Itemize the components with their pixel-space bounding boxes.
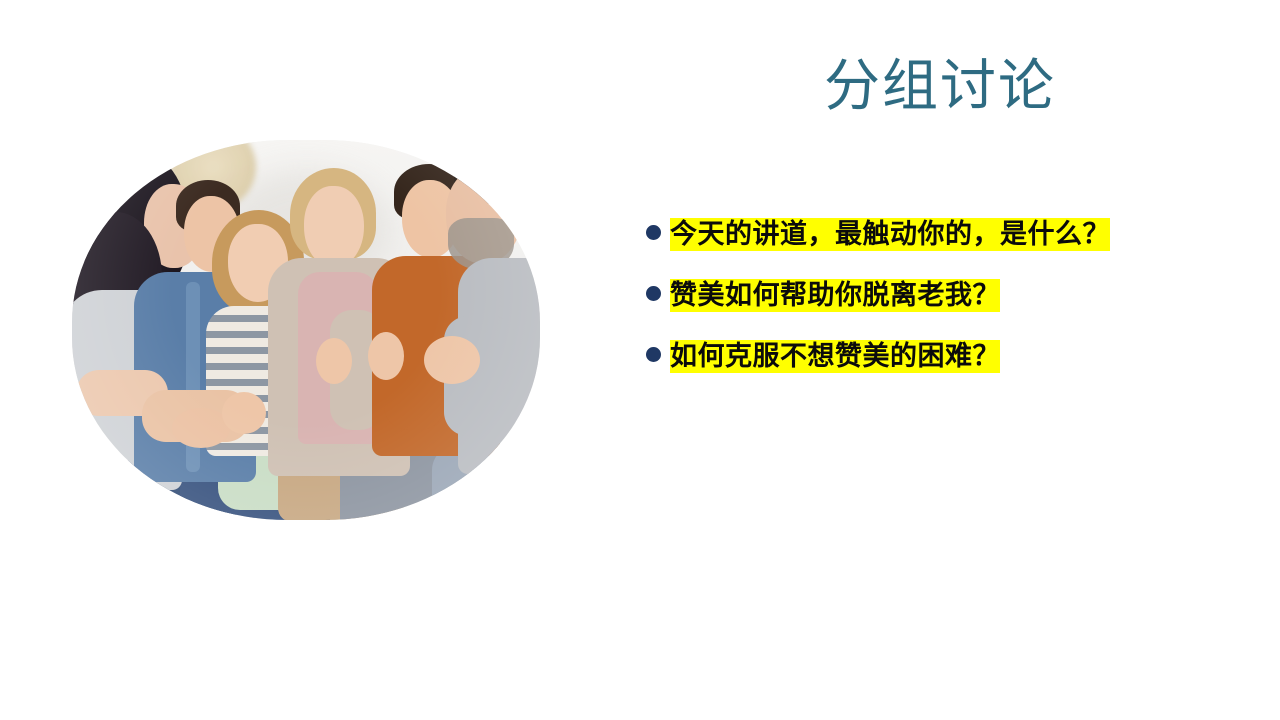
bullet-dot-icon	[646, 286, 661, 301]
photo-illustration	[72, 140, 540, 520]
list-item[interactable]: 今天的讲道，最触动你的，是什么？	[646, 214, 1186, 255]
highlight-2: 赞美如何帮助你脱离老我？	[670, 279, 1000, 312]
list-item[interactable]: 如何克服不想赞美的困难？	[646, 336, 1186, 377]
highlight-1: 今天的讲道，最触动你的，是什么？	[670, 218, 1110, 251]
group-discussion-photo[interactable]	[72, 140, 540, 520]
bullet-dot-icon	[646, 347, 661, 362]
list-item[interactable]: 赞美如何帮助你脱离老我？	[646, 275, 1186, 316]
page-title: 分组讨论	[640, 54, 1240, 120]
photo-vignette	[72, 140, 540, 520]
question-text-3: 如何克服不想赞美的困难？	[670, 336, 1186, 377]
slide-canvas: 分组讨论	[0, 0, 1280, 720]
question-text-1: 今天的讲道，最触动你的，是什么？	[670, 214, 1186, 255]
highlight-3: 如何克服不想赞美的困难？	[670, 340, 1000, 373]
discussion-questions-list: 今天的讲道，最触动你的，是什么？ 赞美如何帮助你脱离老我？ 如何克服不想赞美的困…	[646, 214, 1186, 395]
question-text-2: 赞美如何帮助你脱离老我？	[670, 275, 1186, 316]
bullet-dot-icon	[646, 225, 661, 240]
